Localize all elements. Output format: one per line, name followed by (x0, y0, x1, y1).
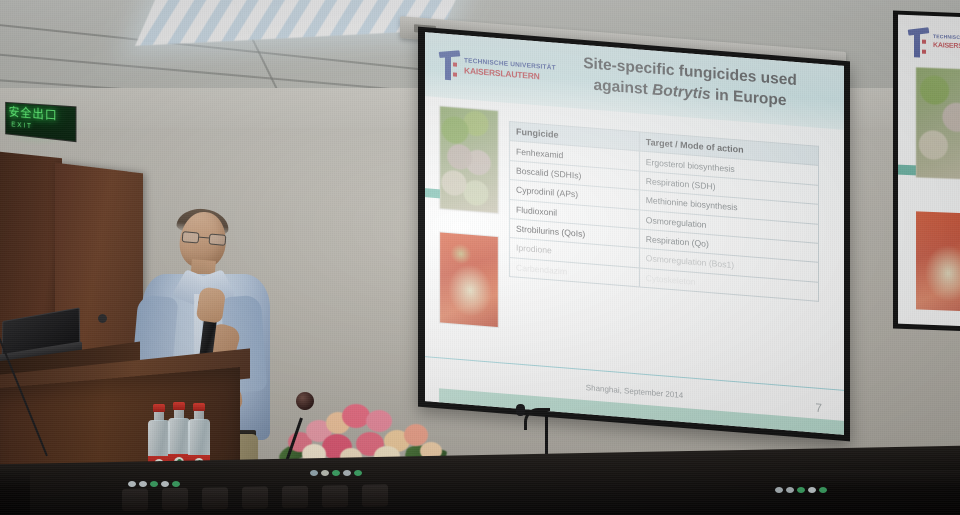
table-front-panel-segment (162, 488, 188, 510)
projection-screen-secondary: TECHNISCHE UNIVERSITÄT KAISERSLAUTERN (893, 10, 960, 331)
logo-mark-icon (439, 49, 461, 81)
indicator-light (819, 487, 827, 493)
presentation-slide: TECHNISCHE UNIVERSITÄT KAISERSLAUTERN Si… (425, 32, 844, 435)
secondary-green-accent-tab (898, 165, 916, 176)
indicator-light (808, 487, 816, 493)
indicator-light (332, 470, 340, 476)
indicator-light (172, 481, 180, 487)
indicator-light (786, 487, 794, 493)
indicator-light (310, 470, 318, 476)
table-front-panel-segment (202, 487, 228, 509)
table-front-panel-segment (322, 485, 348, 507)
fungicides-table-body: Fenhexamid Ergosterol biosynthesis Bosca… (510, 141, 819, 301)
indicator-light (321, 470, 329, 476)
stage-table-indicator-lights (310, 470, 362, 476)
presenter-hand-right (196, 286, 226, 323)
fungicides-table: Fungicide Target / Mode of action Fenhex… (509, 121, 819, 302)
projection-screen-main: TECHNISCHE UNIVERSITÄT KAISERSLAUTERN Si… (418, 27, 850, 442)
indicator-light (161, 481, 169, 487)
exit-sign-chinese-text: 安全出口 (9, 106, 58, 123)
logo-mark-icon (908, 27, 930, 58)
strawberry-grey-mould-photo (439, 231, 499, 328)
table-microphone-head-icon (516, 404, 525, 416)
slide-divider-rule (425, 356, 844, 391)
indicator-light (128, 481, 136, 487)
table-indicator-lights (775, 487, 827, 493)
bottle-neck (154, 411, 164, 421)
bottle-cap (193, 403, 205, 411)
presentation-photo-scene: 安全出口 EXIT TECHNISCHE UNIVERSITÄT KAISERS… (0, 0, 960, 515)
table-front-panel-segment (362, 484, 388, 506)
secondary-screen-surface: TECHNISCHE UNIVERSITÄT KAISERSLAUTERN (898, 15, 960, 327)
secondary-university-logo: TECHNISCHE UNIVERSITÄT KAISERSLAUTERN (908, 25, 960, 52)
grapes-botrytis-photo (439, 105, 499, 214)
gooseneck-microphone-head-icon (98, 314, 107, 323)
logo-dot-icon (453, 72, 457, 76)
table-indicator-lights (128, 481, 180, 487)
logo-stem-shape (445, 56, 451, 80)
slide-image-column (439, 105, 499, 328)
indicator-light (343, 470, 351, 476)
grapes-botrytis-photo (916, 67, 960, 179)
bottle-neck (174, 409, 184, 419)
bottle-cap (153, 404, 165, 412)
indicator-light (150, 481, 158, 487)
indicator-light (139, 481, 147, 487)
podium-microphone-windscreen-icon (296, 392, 314, 410)
glasses-lens-left (182, 231, 200, 243)
exit-sign-english-text: EXIT (11, 121, 33, 130)
bottle-neck (194, 410, 204, 420)
glasses-lens-right (209, 233, 227, 245)
logo-text-line2: KAISERSLAUTERN (933, 42, 960, 51)
bottle-cap (173, 402, 185, 410)
table-front-panel-segment (122, 489, 148, 511)
strawberry-grey-mould-photo (916, 211, 960, 311)
glasses-bridge (199, 237, 209, 239)
logo-stem-shape (914, 33, 920, 57)
slide-green-accent-tab (425, 188, 440, 198)
logo-dot-icon (453, 62, 457, 66)
indicator-light (775, 487, 783, 493)
flower-bloom (366, 410, 392, 432)
table-front-panel-segment (282, 486, 308, 508)
table-front-panel-segment (242, 486, 268, 508)
logo-dot-icon (922, 50, 926, 54)
logo-dot-icon (922, 40, 926, 44)
university-logo: TECHNISCHE UNIVERSITÄT KAISERSLAUTERN (439, 47, 523, 88)
indicator-light (354, 470, 362, 476)
screen-surface: TECHNISCHE UNIVERSITÄT KAISERSLAUTERN Si… (425, 32, 844, 435)
indicator-light (797, 487, 805, 493)
slide-page-number: 7 (815, 401, 822, 416)
